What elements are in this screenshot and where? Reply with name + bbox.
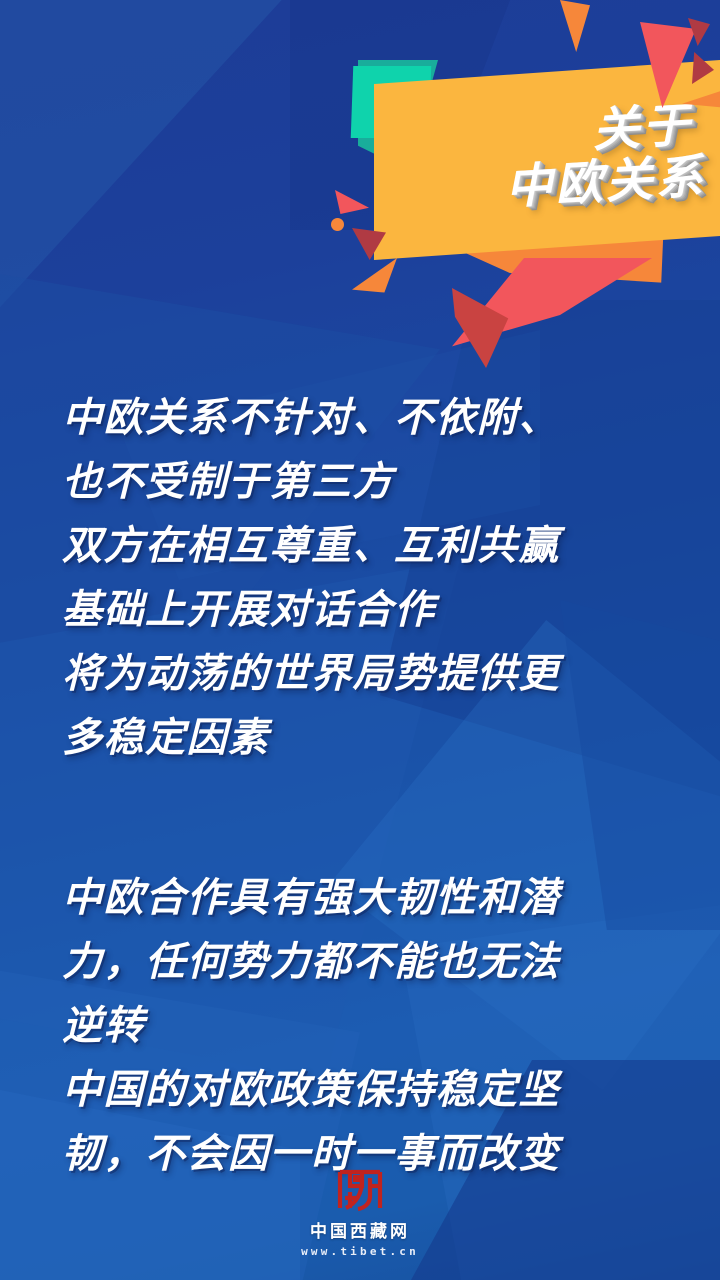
text-line: 也不受制于第三方	[62, 450, 662, 514]
body-text-block: 中欧关系不针对、不依附、 也不受制于第三方 双方在相互尊重、互利共赢 基础上开展…	[62, 386, 662, 1186]
confetti-triangle-icon	[560, 0, 590, 52]
text-line: 基础上开展对话合作	[62, 578, 662, 642]
banner-title-line-2: 中欧关系	[504, 153, 706, 212]
text-line: 中欧合作具有强大韧性和潜	[62, 866, 662, 930]
banner-title-line-1: 关于	[591, 102, 694, 155]
tibet-seal-logo-icon	[332, 1166, 388, 1214]
text-line: 中欧关系不针对、不依附、	[62, 386, 662, 450]
confetti-triangle-icon	[335, 190, 369, 214]
site-url: www.tibet.cn	[301, 1245, 419, 1258]
text-line: 中国的对欧政策保持稳定坚	[62, 1058, 662, 1122]
text-line: 逆转	[62, 994, 662, 1058]
paragraph-2: 中欧合作具有强大韧性和潜 力，任何势力都不能也无法 逆转 中国的对欧政策保持稳定…	[62, 866, 662, 1186]
text-line: 双方在相互尊重、互利共赢	[62, 514, 662, 578]
footer: 中国西藏网 www.tibet.cn	[0, 1166, 720, 1258]
confetti-triangle-icon	[352, 258, 397, 294]
text-line: 多稳定因素	[62, 706, 662, 770]
paragraph-1: 中欧关系不针对、不依附、 也不受制于第三方 双方在相互尊重、互利共赢 基础上开展…	[62, 386, 662, 770]
poster-root: 关于 中欧关系 中欧关系不针对、不依附、 也不受制于第三方 双方在相互尊重、互利…	[0, 0, 720, 1280]
header-artwork: 关于 中欧关系	[0, 0, 720, 345]
confetti-dot-icon	[331, 218, 344, 231]
site-name: 中国西藏网	[310, 1217, 410, 1242]
text-line: 将为动荡的世界局势提供更	[62, 642, 662, 706]
text-line: 力，任何势力都不能也无法	[62, 930, 662, 994]
